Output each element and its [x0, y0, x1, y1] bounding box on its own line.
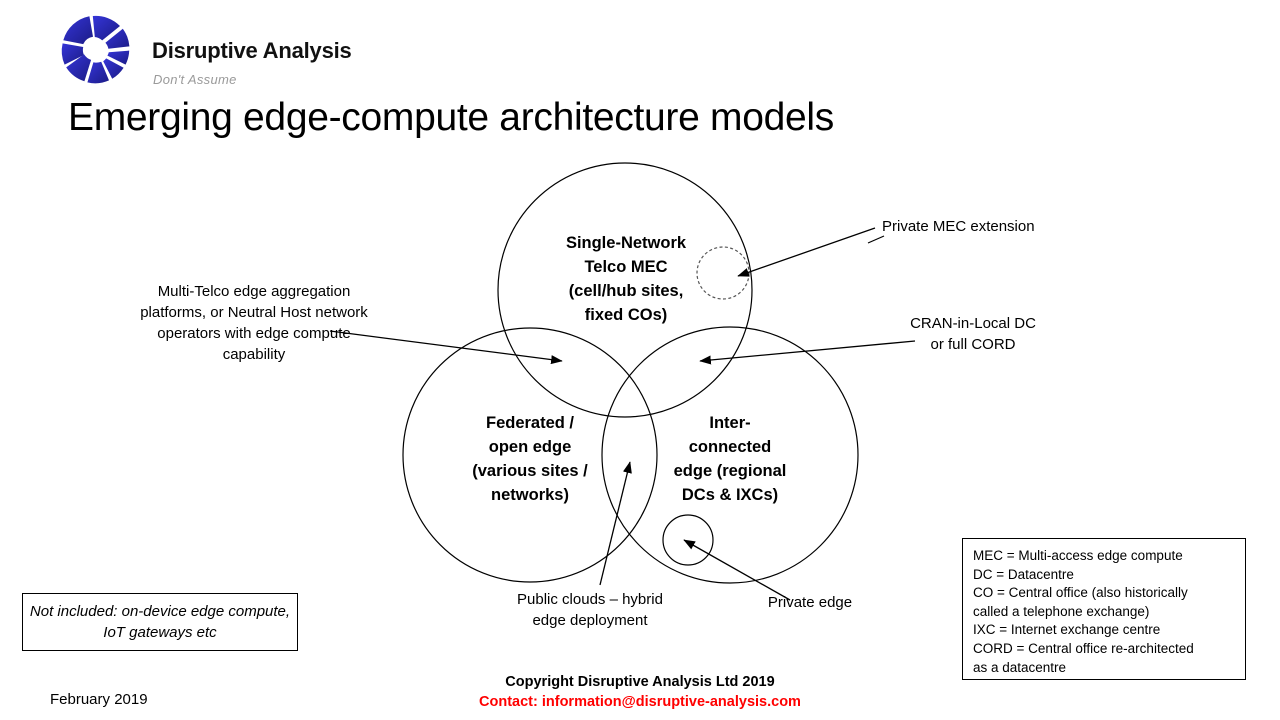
- legend-line: CORD = Central office re-architected: [973, 640, 1235, 659]
- legend-line: CO = Central office (also historically: [973, 584, 1235, 603]
- venn-label-top: Single-Network Telco MEC (cell/hub sites…: [520, 231, 732, 327]
- venn-label-left-line1: Federated /: [432, 411, 628, 435]
- private-edge-circle: [663, 515, 713, 565]
- annotation-cran: CRAN-in-Local DC or full CORD: [906, 313, 1040, 355]
- not-included-text: Not included: on-device edge compute, Io…: [23, 601, 297, 643]
- leader-private-edge: [684, 540, 790, 600]
- annotation-multi-telco: Multi-Telco edge aggregation platforms, …: [140, 281, 368, 365]
- venn-label-right-line3: edge (regional: [650, 459, 810, 483]
- annotation-public-clouds: Public clouds – hybrid edge deployment: [510, 589, 670, 631]
- leader-private-mec: [738, 228, 875, 276]
- venn-label-right: Inter- connected edge (regional DCs & IX…: [650, 411, 810, 507]
- annotation-private-mec: Private MEC extension: [882, 216, 1042, 237]
- copyright-text: Copyright Disruptive Analysis Ltd 2019: [0, 674, 1280, 690]
- venn-label-top-line2: Telco MEC: [520, 255, 732, 279]
- legend-line: MEC = Multi-access edge compute: [973, 547, 1235, 566]
- abbreviations-legend-box: MEC = Multi-access edge compute DC = Dat…: [962, 538, 1246, 680]
- annotation-private-edge: Private edge: [762, 592, 858, 613]
- venn-label-right-line2: connected: [650, 435, 810, 459]
- venn-label-left-line3: (various sites /: [432, 459, 628, 483]
- tick-private-mec: [868, 236, 884, 243]
- legend-line: called a telephone exchange): [973, 603, 1235, 622]
- slide: Disruptive Analysis Don't Assume Emergin…: [0, 0, 1280, 720]
- legend-line: DC = Datacentre: [973, 566, 1235, 585]
- legend-line: IXC = Internet exchange centre: [973, 621, 1235, 640]
- venn-label-top-line3: (cell/hub sites,: [520, 279, 732, 303]
- venn-label-top-line1: Single-Network: [520, 231, 732, 255]
- contact-text[interactable]: Contact: information@disruptive-analysis…: [0, 694, 1280, 710]
- not-included-box: Not included: on-device edge compute, Io…: [22, 593, 298, 651]
- venn-label-top-line4: fixed COs): [520, 303, 732, 327]
- venn-label-left-line2: open edge: [432, 435, 628, 459]
- leader-cran: [700, 341, 915, 361]
- venn-label-left: Federated / open edge (various sites / n…: [432, 411, 628, 507]
- venn-label-right-line4: DCs & IXCs): [650, 483, 810, 507]
- venn-label-right-line1: Inter-: [650, 411, 810, 435]
- venn-label-left-line4: networks): [432, 483, 628, 507]
